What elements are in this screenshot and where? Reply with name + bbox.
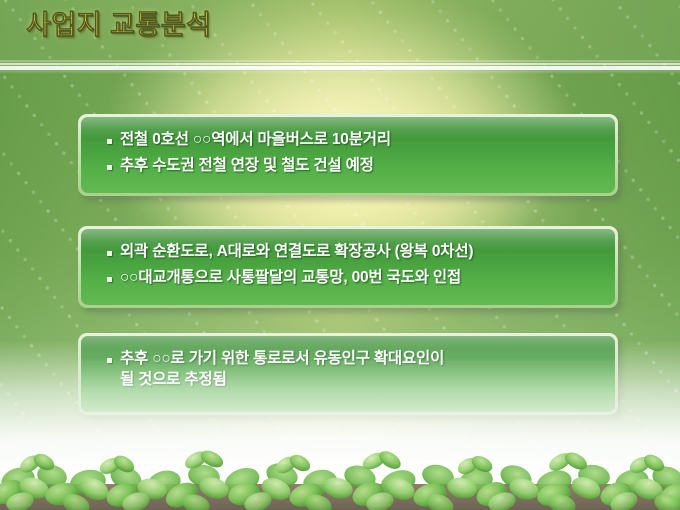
square-bullet-icon	[107, 277, 112, 282]
content-box-roads[interactable]: 외곽 순환도로, A대로와 연결도로 확장공사 (왕복 0차선) ○○대교개통으…	[78, 226, 618, 308]
list-item: 추후 수도권 전철 연장 및 철도 건설 예정	[107, 156, 597, 177]
bullet-list: 추후 ○○로 가기 위한 통로로서 유동인구 확대요인이 될 것으로 추정됨	[81, 336, 615, 391]
list-item-label: 추후 ○○로 가기 위한 통로로서 유동인구 확대요인이 될 것으로 추정됨	[120, 349, 444, 391]
square-bullet-icon	[107, 139, 112, 144]
list-item: 추후 ○○로 가기 위한 통로로서 유동인구 확대요인이 될 것으로 추정됨	[107, 349, 597, 391]
list-item-label: 추후 수도권 전철 연장 및 철도 건설 예정	[120, 156, 374, 177]
list-item: 전철 0호선 ○○역에서 마을버스로 10분거리	[107, 130, 597, 151]
content-box-inner: 외곽 순환도로, A대로와 연결도로 확장공사 (왕복 0차선) ○○대교개통으…	[81, 229, 615, 305]
list-item-label: ○○대교개통으로 사통팔달의 교통망, 00번 국도와 인접	[120, 268, 461, 289]
bullet-list: 전철 0호선 ○○역에서 마을버스로 10분거리 추후 수도권 전철 연장 및 …	[81, 117, 615, 177]
list-item: 외곽 순환도로, A대로와 연결도로 확장공사 (왕복 0차선)	[107, 242, 597, 263]
list-item: ○○대교개통으로 사통팔달의 교통망, 00번 국도와 인접	[107, 268, 597, 289]
bullet-list: 외곽 순환도로, A대로와 연결도로 확장공사 (왕복 0차선) ○○대교개통으…	[81, 229, 615, 289]
square-bullet-icon	[107, 251, 112, 256]
content-box-outlook[interactable]: 추후 ○○로 가기 위한 통로로서 유동인구 확대요인이 될 것으로 추정됨	[78, 333, 618, 415]
content-box-transit[interactable]: 전철 0호선 ○○역에서 마을버스로 10분거리 추후 수도권 전철 연장 및 …	[78, 114, 618, 196]
list-item-label: 전철 0호선 ○○역에서 마을버스로 10분거리	[120, 130, 391, 151]
page-title: 사업지 교통분석	[26, 11, 211, 41]
content-box-inner: 전철 0호선 ○○역에서 마을버스로 10분거리 추후 수도권 전철 연장 및 …	[81, 117, 615, 193]
square-bullet-icon	[107, 165, 112, 170]
content-box-inner: 추후 ○○로 가기 위한 통로로서 유동인구 확대요인이 될 것으로 추정됨	[81, 336, 615, 412]
slide-canvas: 사업지 교통분석 전철 0호선 ○○역에서 마을버스로 10분거리 추후 수도권…	[0, 0, 680, 510]
list-item-label: 외곽 순환도로, A대로와 연결도로 확장공사 (왕복 0차선)	[120, 242, 473, 263]
square-bullet-icon	[107, 358, 112, 363]
